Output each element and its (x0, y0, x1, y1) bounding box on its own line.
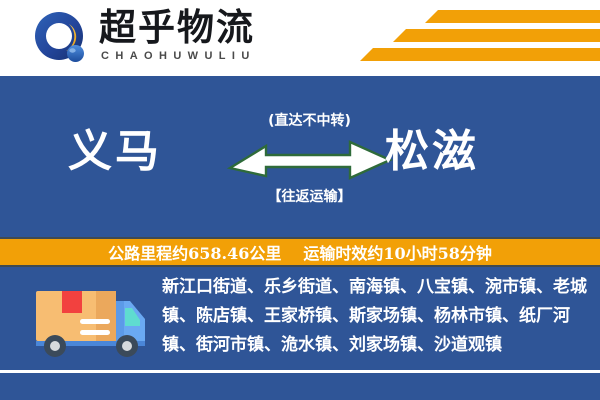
distance-text: 公路里程约658.46公里 (108, 240, 281, 264)
round-trip-note: 【往返运输】 (222, 186, 397, 206)
route-middle: (直达不中转) 【往返运输】 (222, 110, 397, 222)
header-stripe-1 (425, 10, 600, 23)
footer-strip (0, 373, 600, 400)
double-headed-arrow-icon (222, 138, 397, 184)
logistics-route-banner: 超乎物流 CHAOHUWULIU 义马 (直达不中转) 【往返运输】 松滋 公路… (0, 0, 600, 400)
coverage-panel: 新江口街道、乐乡街道、南海镇、八宝镇、涴市镇、老城镇、陈店镇、王家桥镇、斯家场镇… (0, 267, 600, 370)
route-info-bar: 公路里程约658.46公里 运输时效约10小时58分钟 (0, 237, 600, 267)
route-panel: 义马 (直达不中转) 【往返运输】 松滋 (0, 76, 600, 237)
brand-logo-icon (33, 10, 91, 68)
direct-route-note: (直达不中转) (222, 110, 397, 130)
duration-text: 运输时效约10小时58分钟 (303, 240, 492, 264)
covered-towns-text: 新江口街道、乐乡街道、南海镇、八宝镇、涴市镇、老城镇、陈店镇、王家桥镇、斯家场镇… (162, 273, 590, 360)
header-stripe-3 (360, 48, 600, 61)
brand-name-cn: 超乎物流 (99, 6, 255, 50)
header-stripes (350, 8, 600, 70)
origin-city: 义马 (68, 126, 162, 178)
delivery-truck-icon (28, 277, 150, 359)
brand-name-pinyin: CHAOHUWULIU (101, 50, 256, 62)
destination-city: 松滋 (385, 126, 479, 178)
header: 超乎物流 CHAOHUWULIU (0, 0, 600, 76)
header-stripe-2 (393, 29, 600, 42)
